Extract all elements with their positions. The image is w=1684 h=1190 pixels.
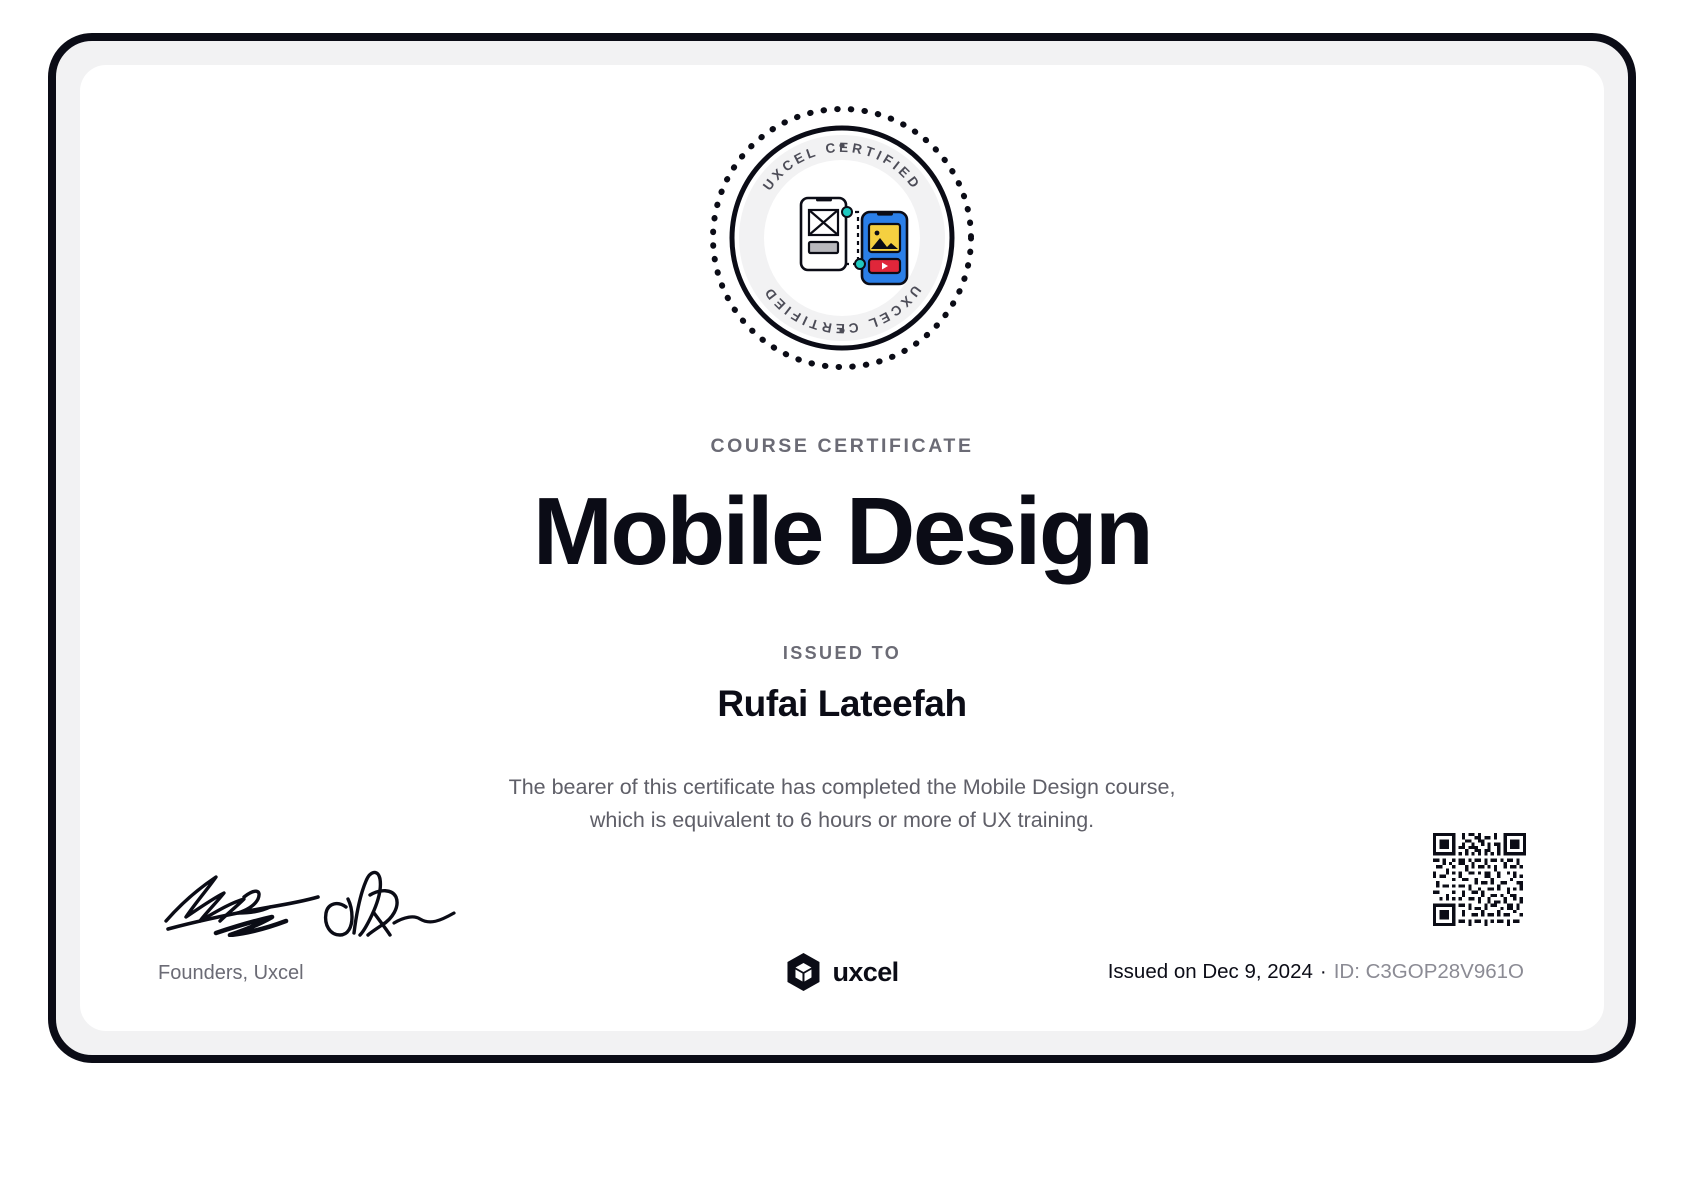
wireframe-phone-notch [816,198,832,201]
page-title: Mobile Design [80,480,1604,584]
certificate-card: UXCEL CERTIFIED UXCEL CERTIFIED [80,65,1604,1031]
signature-graphic [158,855,458,937]
wireframe-button-box [809,242,838,253]
founder-signatures [158,855,458,937]
certificate-description: The bearer of this certificate has compl… [392,771,1292,837]
eyebrow-label: COURSE CERTIFICATE [80,435,1604,458]
anchor-dot-bottom [855,259,865,269]
certificate-frame: UXCEL CERTIFIED UXCEL CERTIFIED [48,33,1636,1063]
badge-graphic: UXCEL CERTIFIED UXCEL CERTIFIED [706,102,978,374]
anchor-dot-top [842,207,852,217]
recipient-name: Rufai Lateefah [80,683,1604,725]
badge-bullet-bottom [839,328,844,333]
image-placeholder-sun [875,231,880,236]
founders-label: Founders, Uxcel [158,962,304,985]
uxcel-hexagon-icon [785,952,821,992]
issued-to-label: ISSUED TO [80,643,1604,664]
uxcel-wordmark: uxcel [832,957,898,988]
signature-two [326,872,454,935]
issue-info-separator: · [1320,960,1327,983]
qr-code-graphic[interactable] [1433,833,1526,926]
uxcel-logo: uxcel [785,952,898,992]
qr-code[interactable] [1433,833,1526,926]
issue-info: Issued on Dec 9, 2024·ID: C3GOP28V961O [1108,960,1524,984]
uxcel-certified-badge: UXCEL CERTIFIED UXCEL CERTIFIED [706,102,978,374]
description-line-2: which is equivalent to 6 hours or more o… [392,804,1292,837]
badge-bullet-top [839,143,844,148]
certificate-id: ID: C3GOP28V961O [1334,960,1524,983]
blue-phone-notch [877,212,893,216]
description-line-1: The bearer of this certificate has compl… [392,771,1292,804]
signature-one [166,877,318,935]
issued-on-date: Issued on Dec 9, 2024 [1108,960,1313,983]
